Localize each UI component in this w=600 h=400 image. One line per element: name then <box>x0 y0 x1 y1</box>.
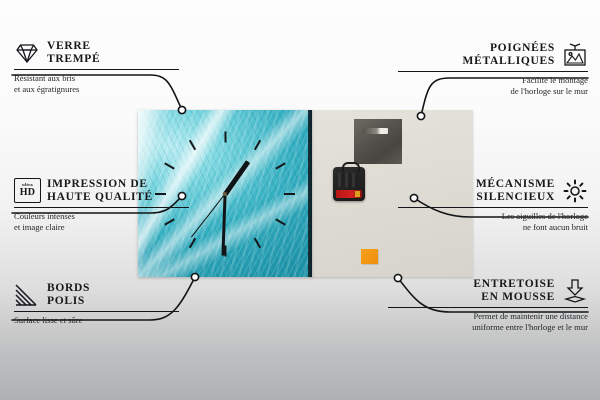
callout-title-line1: VERRE <box>47 40 100 53</box>
movement-gears <box>338 173 358 187</box>
callout-desc-line1: Facilite le montage <box>398 75 588 86</box>
callout-desc-line1: Surface lisse et sûre <box>14 315 179 326</box>
foam-spacer <box>361 249 378 264</box>
callout-title-line2: HAUTE QUALITÉ <box>47 191 153 204</box>
callout-rule <box>398 207 588 208</box>
hour-tick <box>189 140 196 151</box>
callout-desc-line2: et image claire <box>14 222 189 233</box>
callout-title-line1: IMPRESSION DE <box>47 178 153 191</box>
hour-tick <box>189 238 196 249</box>
callout-rule <box>14 311 179 312</box>
callout-title-line2: MÉTALLIQUES <box>463 55 555 68</box>
ultra-hd-icon: ultra HD <box>14 178 40 204</box>
hour-tick <box>254 140 261 151</box>
ultra-hd-icon-main: HD <box>20 188 36 198</box>
callout-rule <box>14 69 179 70</box>
callout-title-line2: TREMPÉ <box>47 53 100 66</box>
callout-header: MÉCANISME SILENCIEUX <box>398 178 588 204</box>
callout-header: POIGNÉES MÉTALLIQUES <box>398 42 588 68</box>
callout-title-line2: POLIS <box>47 295 90 308</box>
callout-rule <box>14 207 189 208</box>
clock-center-hub <box>223 192 227 196</box>
callout-desc-line1: Les aiguilles de l'horloge <box>398 211 588 222</box>
callout-header: ultra HD IMPRESSION DE HAUTE QUALITÉ <box>14 178 189 204</box>
picture-hanger-icon <box>562 42 588 68</box>
callout-desc-line2: uniforme entre l'horloge et le mur <box>388 322 588 333</box>
metal-hanger-plate <box>354 119 402 164</box>
polished-edges-icon <box>14 282 40 308</box>
hour-tick <box>276 162 287 169</box>
callout-bords-polis: BORDS POLIS Surface lisse et sûre <box>14 282 179 326</box>
callout-title-line2: SILENCIEUX <box>476 191 555 204</box>
hour-tick <box>284 193 295 195</box>
movement-bail <box>342 162 360 172</box>
callout-desc-line1: Résistant aux bris <box>14 73 179 84</box>
callout-desc-line1: Couleurs intenses <box>14 211 189 222</box>
callout-title-line1: ENTRETOISE <box>473 278 555 291</box>
callout-poignees-metalliques: POIGNÉES MÉTALLIQUES Facilite le montage… <box>398 42 588 96</box>
callout-header: BORDS POLIS <box>14 282 179 308</box>
hour-tick <box>276 219 287 226</box>
callout-entretoise-en-mousse: ENTRETOISE EN MOUSSE Permet de maintenir… <box>388 278 588 332</box>
callout-desc-line2: ne font aucun bruit <box>398 222 588 233</box>
second-hand <box>191 194 226 238</box>
hour-tick <box>224 132 226 143</box>
gear-icon <box>562 178 588 204</box>
battery <box>336 190 362 198</box>
callout-header: VERRE TREMPÉ <box>14 40 179 66</box>
callout-rule <box>388 307 588 308</box>
diamond-icon <box>14 40 40 66</box>
callout-verre-trempe: VERRE TREMPÉ Résistant aux bris et aux é… <box>14 40 179 94</box>
callout-desc-line2: de l'horloge sur le mur <box>398 86 588 97</box>
panel-edge <box>308 110 312 277</box>
hour-tick <box>164 162 175 169</box>
hour-hand <box>223 160 250 195</box>
foam-spacer-icon <box>562 278 588 304</box>
callout-title-line1: MÉCANISME <box>476 178 555 191</box>
callout-title-line1: BORDS <box>47 282 90 295</box>
callout-desc-line1: Permet de maintenir une distance <box>388 311 588 322</box>
infographic-stage: VERRE TREMPÉ Résistant aux bris et aux é… <box>0 0 600 400</box>
quartz-movement <box>333 167 365 201</box>
callout-title-line2: EN MOUSSE <box>473 291 555 304</box>
hour-tick <box>254 238 261 249</box>
callout-desc-line2: et aux égratignures <box>14 84 179 95</box>
callout-mecanisme-silencieux: MÉCANISME SILENCIEUX Les aiguilles de l'… <box>398 178 588 232</box>
callout-rule <box>398 71 588 72</box>
callout-impression-haute-qualite: ultra HD IMPRESSION DE HAUTE QUALITÉ Cou… <box>14 178 189 232</box>
hanger-slot <box>363 128 388 134</box>
callout-title-line1: POIGNÉES <box>463 42 555 55</box>
callout-header: ENTRETOISE EN MOUSSE <box>388 278 588 304</box>
